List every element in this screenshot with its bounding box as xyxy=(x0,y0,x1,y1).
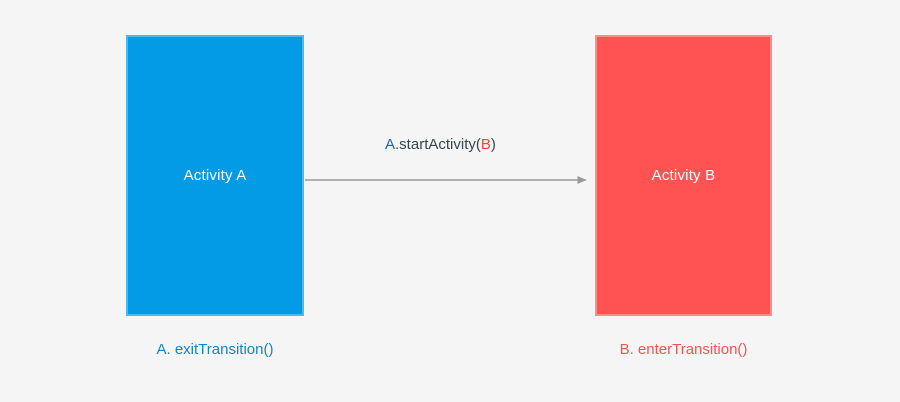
activity-a-label: Activity A xyxy=(184,168,247,183)
arrow-label-argument: B xyxy=(481,136,491,153)
arrow-label-method: .startActivity( xyxy=(395,136,481,153)
enter-transition-label: B. enterTransition() xyxy=(595,340,772,360)
exit-transition-label: A. exitTransition() xyxy=(126,340,304,360)
activity-b-box[interactable]: Activity B xyxy=(595,35,772,316)
arrow-label-caller: A xyxy=(385,136,395,153)
arrow-label-closing: ) xyxy=(491,136,496,153)
diagram-canvas: Activity A Activity B A.startActivity(B)… xyxy=(0,0,900,402)
arrow-label: A.startActivity(B) xyxy=(385,135,496,155)
activity-b-label: Activity B xyxy=(652,168,716,183)
activity-a-box[interactable]: Activity A xyxy=(126,35,304,316)
